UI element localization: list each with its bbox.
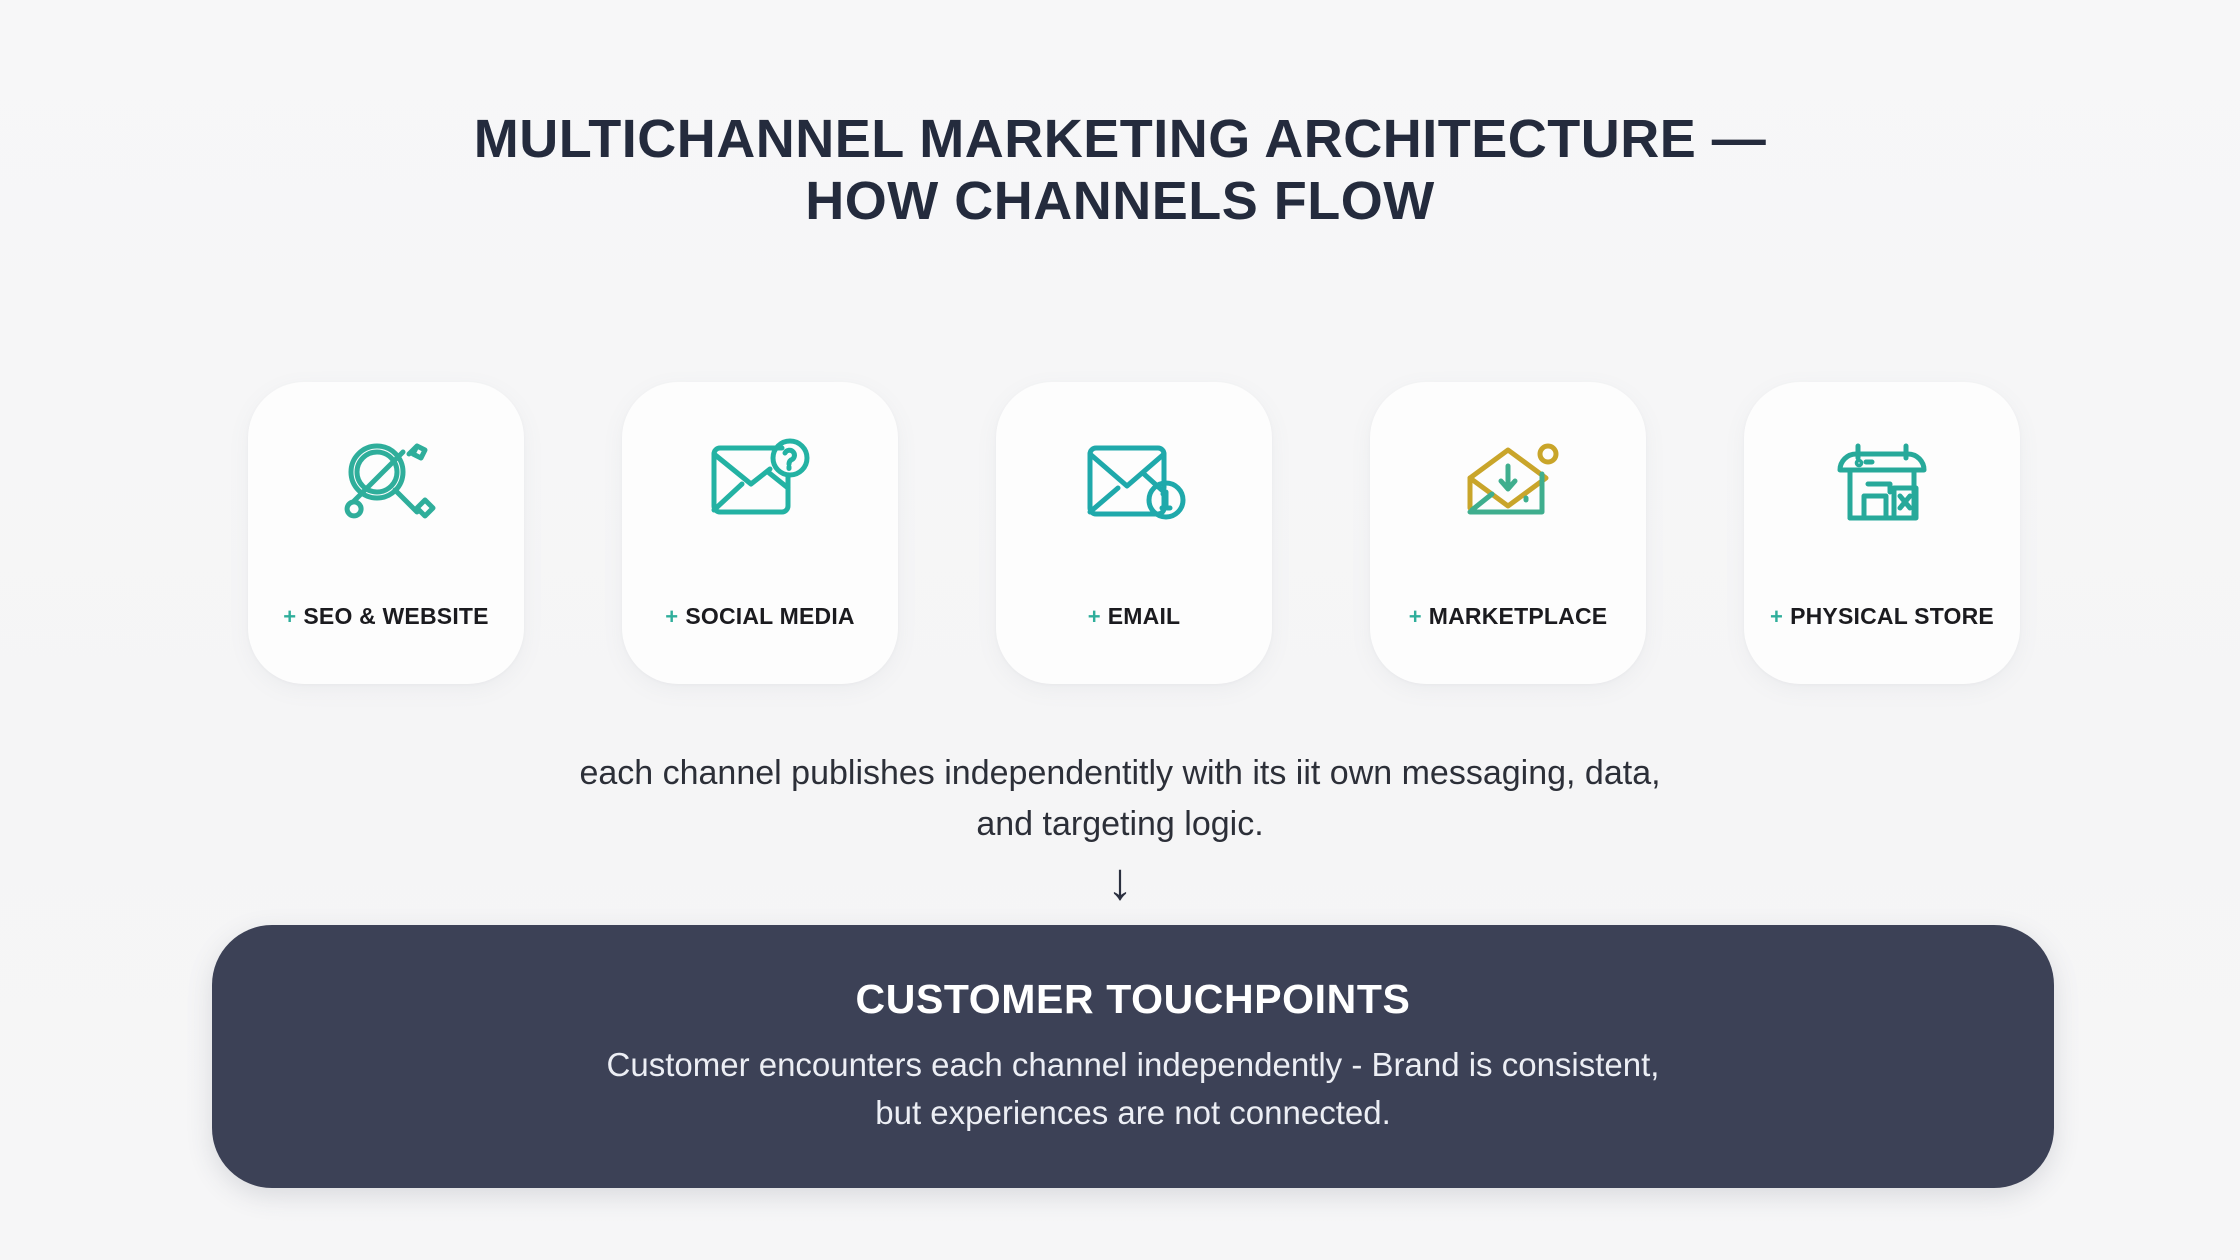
caption-text: each channel publishes independentitly w… — [360, 748, 1880, 850]
banner-body: Customer encounters each channel indepen… — [313, 1041, 1953, 1137]
down-arrow-icon: ↓ — [0, 856, 2240, 908]
channel-label-text: EMAIL — [1108, 603, 1181, 630]
channel-card-seo-website[interactable]: + SEO & WEBSITE — [248, 382, 524, 684]
customer-touchpoints-banner: CUSTOMER TOUCHPOINTS Customer encounters… — [212, 925, 2054, 1188]
channel-label-text: SOCIAL MEDIA — [685, 603, 854, 630]
channel-label-text: PHYSICAL STORE — [1790, 603, 1994, 630]
channel-card-physical-store[interactable]: + PHYSICAL STORE — [1744, 382, 2020, 684]
page-title: MULTICHANNEL MARKETING ARCHITECTURE — HO… — [0, 108, 2240, 232]
channel-card-marketplace[interactable]: + MARKETPLACE — [1370, 382, 1646, 684]
channel-card-email[interactable]: + EMAIL — [996, 382, 1272, 684]
caption-line-1: each channel publishes independentitly w… — [360, 748, 1880, 799]
banner-line-2: but experiences are not connected. — [313, 1089, 1953, 1137]
channel-card-label: + PHYSICAL STORE — [1770, 603, 1994, 630]
channel-label-text: MARKETPLACE — [1429, 603, 1608, 630]
plus-icon: + — [665, 606, 678, 628]
channel-card-label: + EMAIL — [1088, 603, 1181, 630]
plus-icon: + — [1770, 606, 1783, 628]
magnifier-wrench-icon — [327, 426, 445, 538]
channel-card-label: + MARKETPLACE — [1409, 603, 1608, 630]
plus-icon: + — [1409, 606, 1422, 628]
channel-card-social-media[interactable]: + SOCIAL MEDIA — [622, 382, 898, 684]
infographic-canvas: MULTICHANNEL MARKETING ARCHITECTURE — HO… — [0, 0, 2240, 1260]
plus-icon: + — [283, 606, 296, 628]
title-line-2: HOW CHANNELS FLOW — [0, 170, 2240, 232]
channel-label-text: SEO & WEBSITE — [303, 603, 488, 630]
banner-line-1: Customer encounters each channel indepen… — [313, 1041, 1953, 1089]
channel-cards-row: + SEO & WEBSITE + SOCIAL MEDIA — [248, 382, 2020, 684]
envelope-badge-icon — [1075, 426, 1193, 538]
plus-icon: + — [1088, 606, 1101, 628]
title-line-1: MULTICHANNEL MARKETING ARCHITECTURE — — [0, 108, 2240, 170]
storefront-icon — [1823, 426, 1941, 538]
channel-card-label: + SOCIAL MEDIA — [665, 603, 854, 630]
channel-card-label: + SEO & WEBSITE — [283, 603, 488, 630]
caption-line-2: and targeting logic. — [360, 799, 1880, 850]
envelope-download-icon — [1449, 426, 1567, 538]
banner-title: CUSTOMER TOUCHPOINTS — [856, 976, 1411, 1023]
envelope-question-icon — [701, 426, 819, 538]
